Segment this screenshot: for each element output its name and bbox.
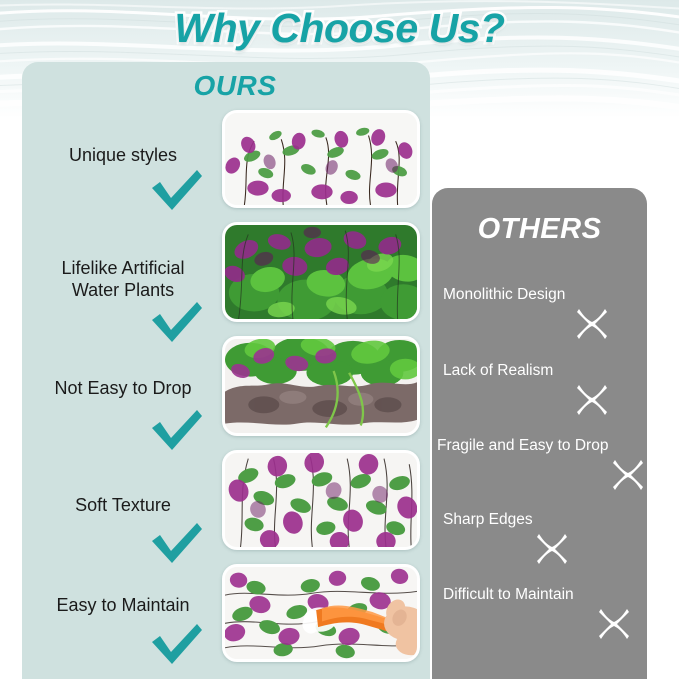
x-icon bbox=[575, 307, 609, 341]
product-photo-1 bbox=[222, 110, 420, 208]
page-title: Why Choose Us? bbox=[0, 5, 679, 52]
product-photo-4 bbox=[222, 450, 420, 550]
ours-feature-label-2: Lifelike Artificial Water Plants bbox=[28, 257, 218, 301]
check-icon bbox=[150, 622, 204, 666]
others-panel bbox=[432, 188, 647, 679]
others-feature-label-4: Sharp Edges bbox=[443, 511, 533, 529]
product-photo-2 bbox=[222, 222, 420, 322]
check-icon bbox=[150, 408, 204, 452]
ours-feature-label-1: Unique styles bbox=[28, 144, 218, 166]
others-feature-label-3: Fragile and Easy to Drop bbox=[437, 437, 608, 455]
x-icon bbox=[575, 383, 609, 417]
check-icon bbox=[150, 521, 204, 565]
others-heading: OTHERS bbox=[432, 213, 647, 246]
others-feature-label-2: Lack of Realism bbox=[443, 362, 553, 380]
product-photo-3 bbox=[222, 336, 420, 436]
others-feature-label-1: Monolithic Design bbox=[443, 286, 565, 304]
ours-feature-label-3: Not Easy to Drop bbox=[28, 377, 218, 399]
check-icon bbox=[150, 168, 204, 212]
x-icon bbox=[535, 532, 569, 566]
infographic-root: Why Choose Us? OURS Unique styles Lifeli… bbox=[0, 0, 679, 679]
ours-feature-label-5: Easy to Maintain bbox=[28, 594, 218, 616]
ours-heading: OURS bbox=[150, 70, 320, 102]
x-icon bbox=[611, 458, 645, 492]
ours-feature-label-4: Soft Texture bbox=[28, 494, 218, 516]
check-icon bbox=[150, 300, 204, 344]
others-feature-label-5: Difficult to Maintain bbox=[443, 586, 574, 604]
x-icon bbox=[597, 607, 631, 641]
product-photo-5 bbox=[222, 564, 420, 662]
